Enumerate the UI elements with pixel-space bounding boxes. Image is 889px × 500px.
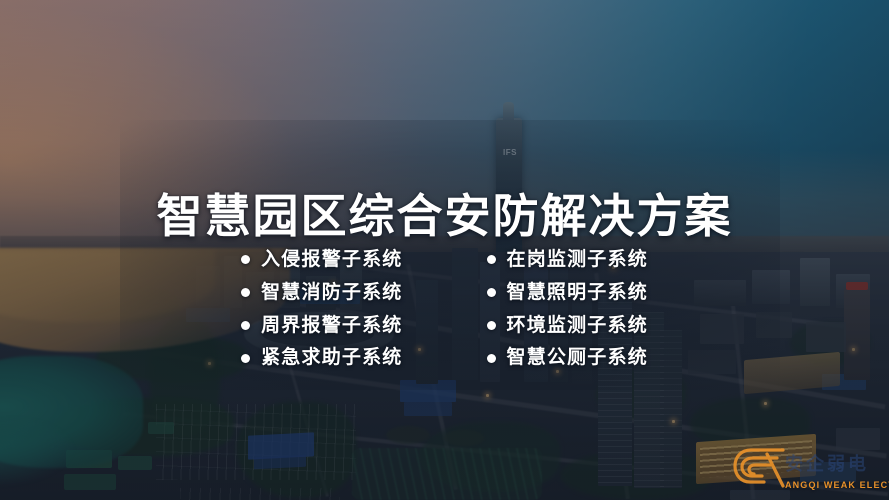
brand-name-cn: 安企弱电	[785, 450, 869, 476]
list-item[interactable]: 智慧公厕子系统	[487, 346, 648, 370]
list-item[interactable]: 在岗监测子系统	[487, 248, 648, 272]
list-item[interactable]: 智慧消防子系统	[241, 281, 402, 305]
bullet-icon	[487, 288, 496, 297]
spiral-logo-icon	[733, 444, 787, 492]
bullet-icon	[241, 288, 250, 297]
list-item-label: 在岗监测子系统	[507, 248, 648, 272]
list-item-label: 周界报警子系统	[261, 314, 402, 338]
subsystem-column-right: 在岗监测子系统 智慧照明子系统 环境监测子系统 智慧公厕子系统	[487, 248, 648, 370]
bullet-icon	[241, 321, 250, 330]
bullet-icon	[487, 354, 496, 363]
list-item-label: 智慧照明子系统	[507, 281, 648, 305]
list-item-label: 智慧消防子系统	[261, 281, 402, 305]
bullet-icon	[487, 321, 496, 330]
list-item-label: 紧急求助子系统	[261, 346, 402, 370]
subsystem-lists: 入侵报警子系统 智慧消防子系统 周界报警子系统 紧急求助子系统	[0, 248, 889, 370]
list-item[interactable]: 紧急求助子系统	[241, 346, 402, 370]
list-item[interactable]: 智慧照明子系统	[487, 281, 648, 305]
bullet-icon	[487, 255, 496, 264]
list-item[interactable]: 入侵报警子系统	[241, 248, 402, 272]
slide-content: 智慧园区综合安防解决方案 入侵报警子系统 智慧消防子系统 周界报警子系统 紧急	[0, 0, 889, 500]
brand-name-en: ANGQI WEAK ELECTRICITY	[785, 480, 889, 490]
bullet-icon	[241, 255, 250, 264]
list-item-label: 入侵报警子系统	[261, 248, 402, 272]
subsystem-column-left: 入侵报警子系统 智慧消防子系统 周界报警子系统 紧急求助子系统	[241, 248, 402, 370]
bullet-icon	[241, 354, 250, 363]
slide-root: IFS	[0, 0, 889, 500]
list-item-label: 智慧公厕子系统	[507, 346, 648, 370]
brand-watermark: 安企弱电 ANGQI WEAK ELECTRICITY	[733, 442, 885, 496]
list-item-label: 环境监测子系统	[507, 314, 648, 338]
page-title: 智慧园区综合安防解决方案	[0, 191, 889, 242]
list-item[interactable]: 环境监测子系统	[487, 314, 648, 338]
list-item[interactable]: 周界报警子系统	[241, 314, 402, 338]
